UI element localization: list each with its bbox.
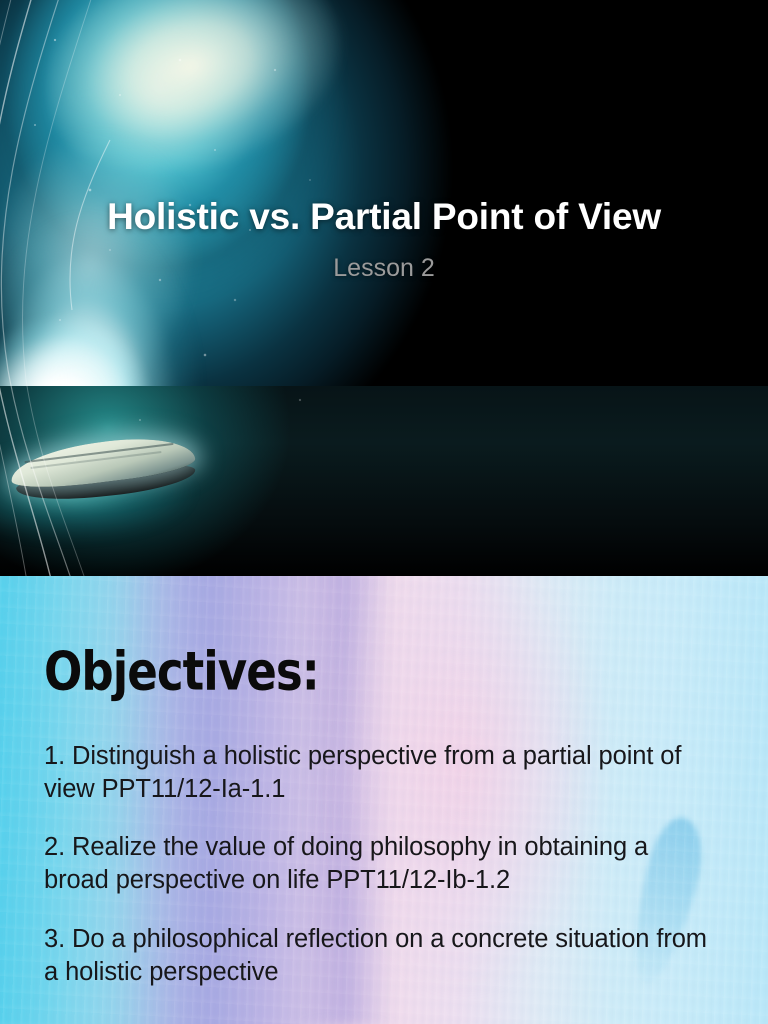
presentation-page: Holistic vs. Partial Point of View Lesso… <box>0 0 768 1024</box>
objectives-heading: Objectives: <box>44 645 319 699</box>
slide-title-text: Holistic vs. Partial Point of View <box>0 196 768 238</box>
slide-subtitle-text: Lesson 2 <box>0 254 768 283</box>
title-block: Holistic vs. Partial Point of View Lesso… <box>0 196 768 283</box>
title-slide: Holistic vs. Partial Point of View Lesso… <box>0 0 768 576</box>
objective-item: 1. Distinguish a holistic perspective fr… <box>44 740 716 806</box>
objective-item: 3. Do a philosophical reflection on a co… <box>44 923 716 989</box>
objective-item: 2. Realize the value of doing philosophy… <box>44 831 716 897</box>
glowing-book-icon <box>10 442 195 498</box>
objectives-list: 1. Distinguish a holistic perspective fr… <box>44 714 716 1003</box>
